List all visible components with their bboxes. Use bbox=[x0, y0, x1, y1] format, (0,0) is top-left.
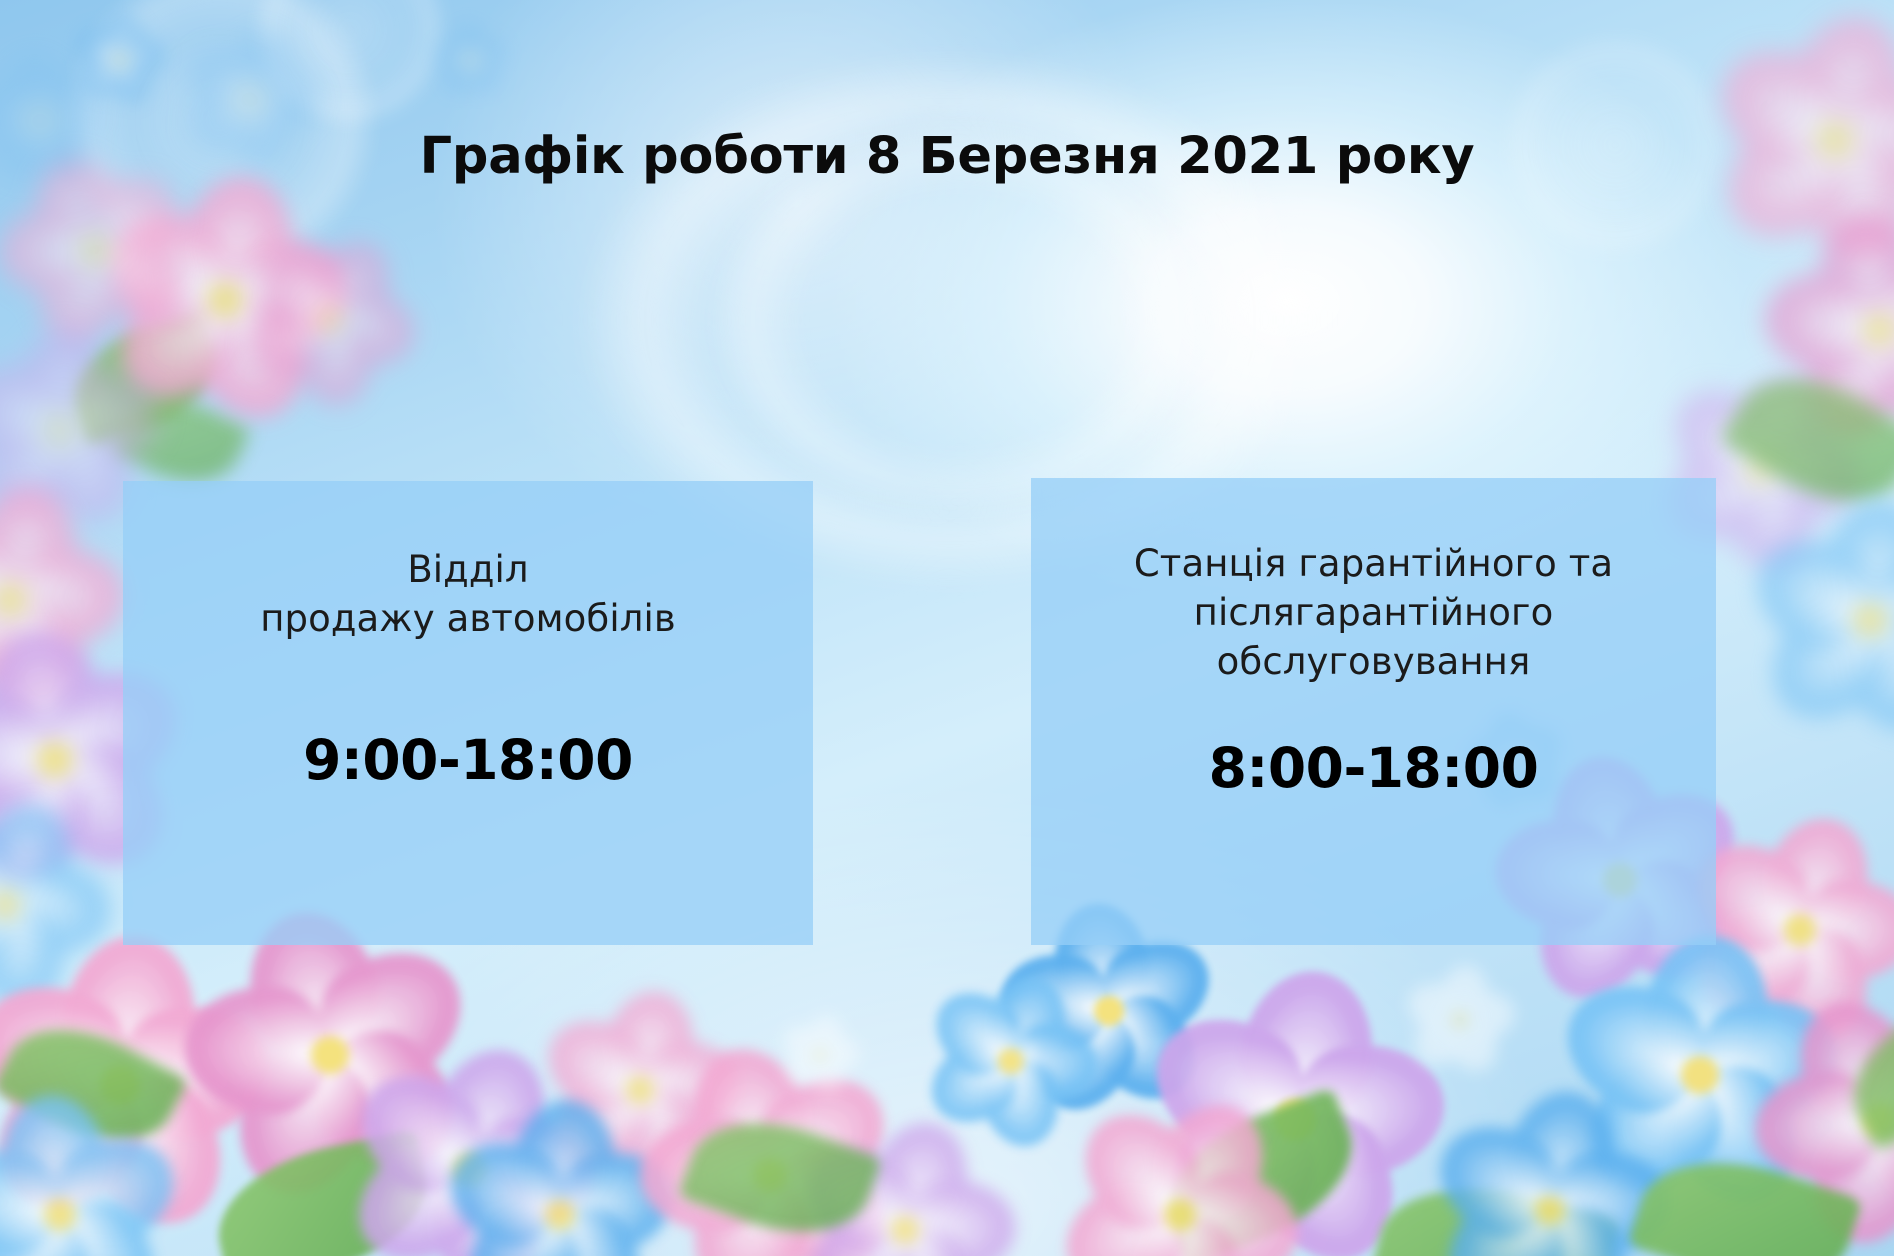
card-title-service: Станція гарантійного та післягарантійног… bbox=[1031, 540, 1716, 686]
schedule-card-service: Станція гарантійного та післягарантійног… bbox=[1031, 478, 1716, 945]
card-hours-service: 8:00-18:00 bbox=[1209, 736, 1539, 800]
poster-canvas: Графік роботи 8 Березня 2021 року Відділ… bbox=[0, 0, 1894, 1256]
card-title-sales: Відділ продажу автомобілів bbox=[260, 546, 676, 644]
schedule-card-sales: Відділ продажу автомобілів 9:00-18:00 bbox=[123, 481, 813, 945]
page-title: Графік роботи 8 Березня 2021 року bbox=[0, 127, 1894, 186]
card-hours-sales: 9:00-18:00 bbox=[303, 728, 633, 792]
